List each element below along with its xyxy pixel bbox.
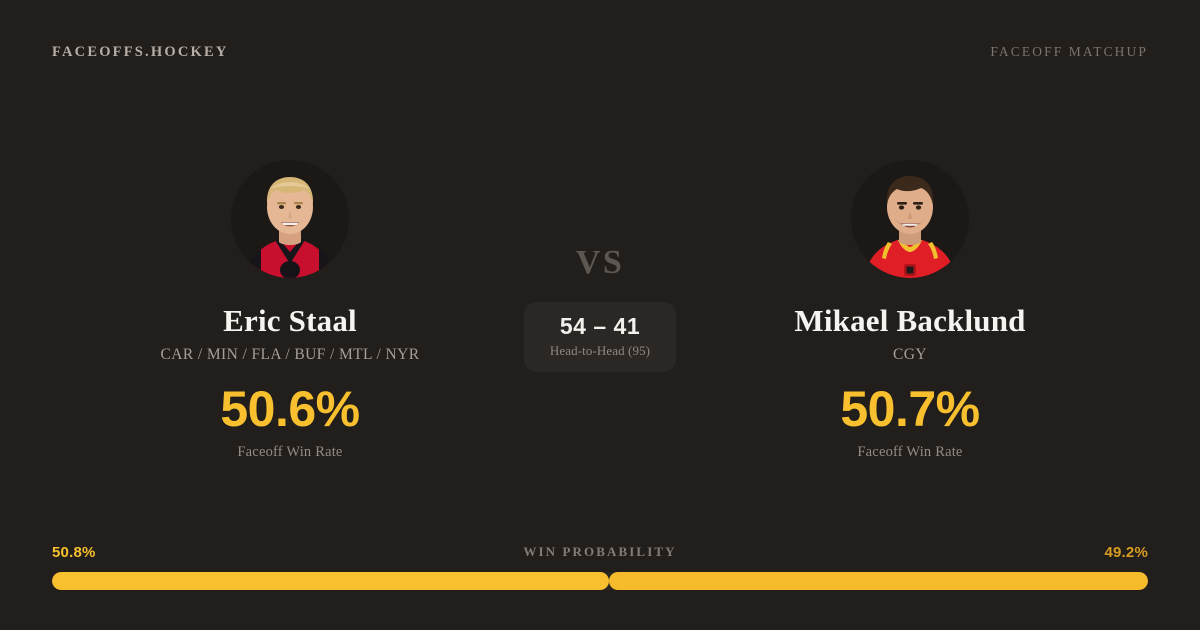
player-teams-right: CGY bbox=[893, 346, 927, 364]
avatar-right bbox=[851, 160, 969, 278]
player-winrate-label-left: Faceoff Win Rate bbox=[237, 444, 342, 461]
player-name-left: Eric Staal bbox=[223, 304, 357, 339]
win-probability-right-value: 49.2% bbox=[1104, 544, 1148, 561]
site-brand: FACEOFFS.HOCKEY bbox=[52, 44, 229, 61]
player-headshot-icon bbox=[231, 160, 349, 278]
win-probability-title: WIN PROBABILITY bbox=[52, 544, 1148, 560]
player-card-right: Mikael Backlund CGY 50.7% Faceoff Win Ra… bbox=[695, 104, 1125, 461]
head-to-head-label: Head-to-Head (95) bbox=[550, 343, 650, 359]
player-teams-left: CAR / MIN / FLA / BUF / MTL / NYR bbox=[161, 346, 420, 364]
player-winrate-label-right: Faceoff Win Rate bbox=[857, 444, 962, 461]
win-probability-section: 50.8% WIN PROBABILITY 49.2% bbox=[52, 544, 1148, 590]
win-probability-bar-right-segment bbox=[609, 572, 1148, 590]
versus-label: VS bbox=[576, 246, 624, 280]
matchup-body: Eric Staal CAR / MIN / FLA / BUF / MTL /… bbox=[0, 104, 1200, 520]
player-winrate-right: 50.7% bbox=[840, 384, 979, 434]
win-probability-bar-left-segment bbox=[52, 572, 609, 590]
player-headshot-icon bbox=[851, 160, 969, 278]
avatar-left bbox=[231, 160, 349, 278]
matchup-card: FACEOFFS.HOCKEY FACEOFF MATCHUP bbox=[0, 0, 1200, 630]
versus-column: VS 54 – 41 Head-to-Head (95) bbox=[505, 104, 695, 372]
head-to-head-score: 54 – 41 bbox=[560, 314, 640, 338]
win-probability-labels: 50.8% WIN PROBABILITY 49.2% bbox=[52, 544, 1148, 561]
win-probability-left-value: 50.8% bbox=[52, 544, 96, 561]
header-bar: FACEOFFS.HOCKEY FACEOFF MATCHUP bbox=[0, 0, 1200, 104]
player-card-left: Eric Staal CAR / MIN / FLA / BUF / MTL /… bbox=[75, 104, 505, 461]
player-name-right: Mikael Backlund bbox=[794, 304, 1025, 339]
head-to-head-card: 54 – 41 Head-to-Head (95) bbox=[524, 302, 676, 372]
page-kicker: FACEOFF MATCHUP bbox=[990, 44, 1148, 60]
win-probability-bar bbox=[52, 572, 1148, 590]
player-winrate-left: 50.6% bbox=[220, 384, 359, 434]
